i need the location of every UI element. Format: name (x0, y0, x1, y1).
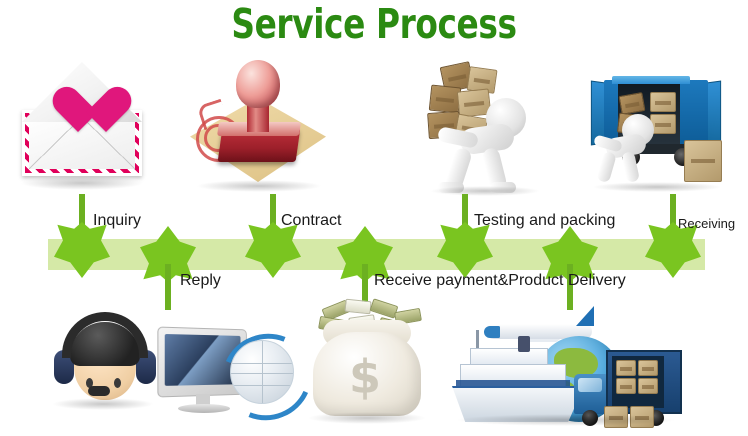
operator-eye-right (114, 378, 121, 388)
operator-shadow (52, 398, 154, 410)
step-label-delivery: Delivery (568, 272, 626, 290)
figure-leg-back (596, 151, 617, 183)
step-label-reply: Reply (180, 272, 221, 290)
arrow-down-receiving (645, 194, 701, 278)
truck-window (578, 378, 602, 392)
ship-stripe (456, 380, 570, 386)
box (616, 360, 636, 376)
rubber-stamp-icon (190, 58, 326, 188)
plane-tail-fin (576, 306, 594, 326)
box-on-ground (684, 140, 722, 182)
arrow-down-contract (245, 194, 301, 278)
page-title: Service Process (75, 2, 673, 46)
ship-funnel (518, 336, 530, 352)
arrow-head-icon (437, 222, 493, 278)
globe-sphere (230, 340, 294, 404)
truck-roof (612, 76, 690, 84)
box (638, 360, 658, 376)
customer-service-operator-icon (52, 310, 150, 406)
box (429, 85, 462, 114)
arrow-head-icon (54, 222, 110, 278)
box (638, 378, 658, 394)
heart-icon (52, 88, 106, 136)
box (616, 378, 636, 394)
dollar-sign-icon: $ (349, 354, 381, 400)
step-label-testing-and-packing: Testing and packing (474, 212, 615, 230)
envelope-heart-icon (14, 62, 150, 180)
globe-parallel (231, 385, 293, 386)
arrow-head-icon (245, 222, 301, 278)
globe-parallel (231, 363, 293, 364)
stamp-shadow (196, 180, 322, 192)
logistics-shadow (456, 414, 676, 426)
headset-band-icon (62, 312, 148, 358)
cash-bundle (344, 299, 371, 315)
step-label-contract: Contract (281, 212, 341, 230)
arrow-stem (165, 264, 171, 310)
step-label-receiving: Receiving (678, 215, 735, 233)
money-bag-icon: $ (305, 298, 429, 424)
globe-parallel (231, 373, 293, 374)
truck-shadow (592, 182, 722, 192)
arrow-down-testing-and-packing (437, 194, 493, 278)
globe-meridian (262, 341, 263, 403)
box (650, 92, 676, 112)
headset-mic-icon (88, 386, 110, 396)
globe-network-icon (222, 330, 304, 416)
step-label-receive-payment-product: Receive payment&Product (374, 272, 563, 290)
arrow-down-inquiry (54, 194, 110, 278)
step-label-inquiry: Inquiry (93, 212, 141, 230)
worker-carrying-boxes-icon (424, 64, 548, 192)
envelope-shadow (20, 176, 144, 190)
bag-shadow (308, 412, 426, 424)
stamp-knob (236, 60, 280, 108)
service-process-infographic: Service Process (0, 0, 748, 436)
delivery-truck-unloading-icon (588, 74, 728, 186)
cargo-ship-icon (452, 330, 588, 426)
arrow-up-delivery (542, 226, 598, 310)
arrow-up-reply (140, 226, 196, 310)
logistics-shipping-icon (452, 300, 682, 426)
